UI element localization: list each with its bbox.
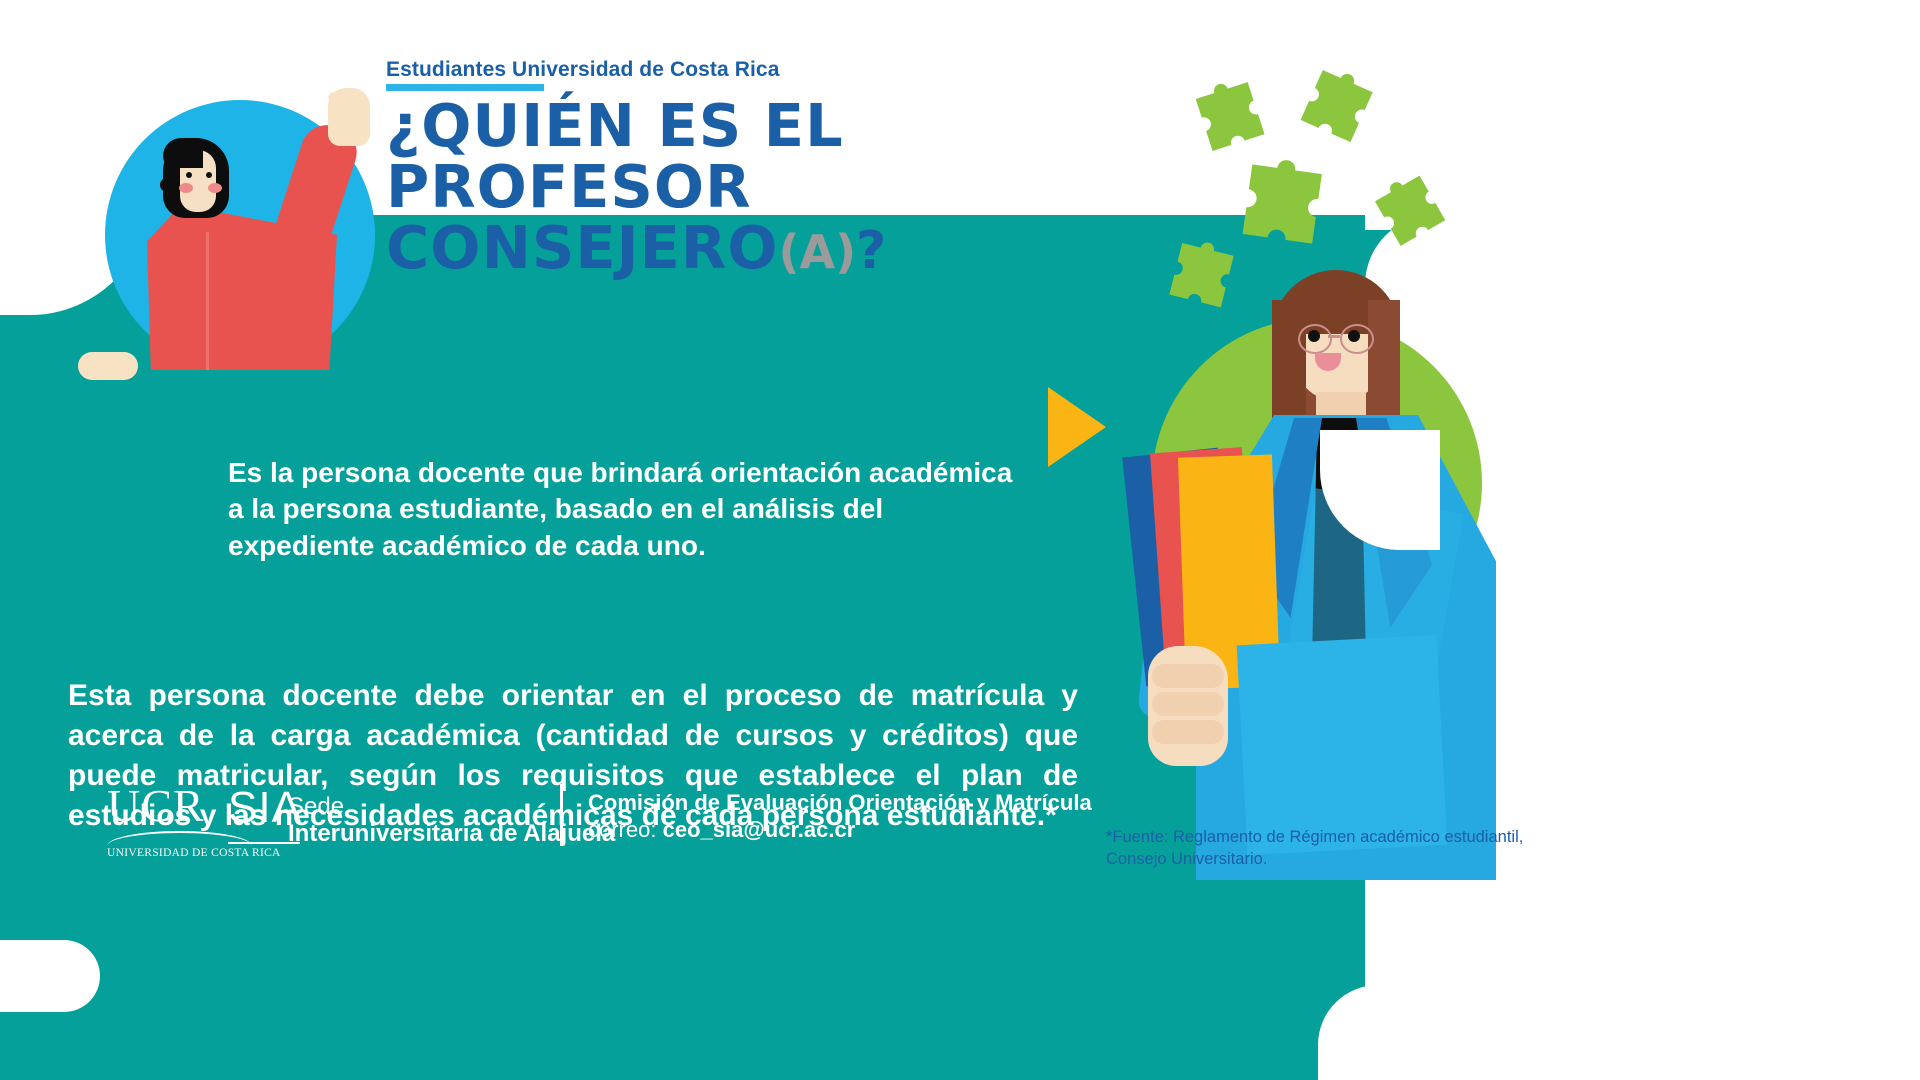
white-clip-bottom (1365, 985, 1920, 1080)
glasses-lens-left-icon (1298, 324, 1332, 354)
student-ear (160, 178, 174, 192)
footer-divider (560, 784, 563, 846)
glasses-lens-right-icon (1340, 324, 1374, 354)
infographic-canvas: Estudiantes Universidad de Costa Rica ¿Q… (0, 0, 1920, 1080)
teacher-finger-1 (1152, 664, 1224, 688)
eyebrow-label: Estudiantes Universidad de Costa Rica (386, 58, 779, 82)
email-row: correo: ceo_sia@ucr.ac.cr (588, 817, 1092, 844)
puzzle-piece-icon (1232, 154, 1334, 256)
footnote: *Fuente: Reglamento de Régimen académico… (1106, 826, 1536, 871)
student-eye-right (206, 172, 212, 178)
student-sleeve-cuff (78, 352, 138, 380)
title-line-1: ¿QUIÉN ES EL (386, 91, 844, 160)
sede-line-2: Interuniversitaria de Alajuela (288, 821, 615, 848)
student-sweater-crease (206, 232, 209, 370)
decorative-pill-left (0, 940, 100, 1012)
footnote-line-1: *Fuente: Reglamento de Régimen académico… (1106, 826, 1536, 848)
student-eye-left (186, 172, 192, 178)
eyebrow-underline (386, 84, 544, 91)
student-cheek-left (179, 183, 193, 193)
puzzle-piece-icon (1187, 73, 1275, 161)
paragraph-primary: Es la persona docente que brindará orien… (228, 455, 1018, 564)
email-address[interactable]: ceo_sia@ucr.ac.cr (663, 817, 856, 842)
contact-block: Comisión de Evaluación Orientación y Mat… (588, 790, 1092, 844)
teacher-folder (1237, 635, 1448, 855)
teacher-finger-2 (1152, 692, 1224, 716)
student-cheek-right (208, 183, 222, 193)
footnote-line-2: Consejo Universitario. (1106, 848, 1536, 870)
sede-line-1: Sede (288, 794, 615, 821)
title-line-2: PROFESOR CONSEJERO (386, 152, 778, 282)
teacher-finger-3 (1152, 720, 1224, 744)
title-paren: (A) (778, 225, 856, 279)
title-line-2-wrap: PROFESOR CONSEJERO(A)? (386, 157, 1146, 279)
commission-name: Comisión de Evaluación Orientación y Mat… (588, 790, 1092, 817)
glasses-bridge-icon (1328, 335, 1340, 338)
email-label: correo: (588, 817, 656, 842)
ucr-full-name: UNIVERSIDAD DE COSTA RICA (107, 847, 252, 859)
sede-label: Sede Interuniversitaria de Alajuela (288, 794, 615, 848)
title-question-mark: ? (856, 221, 887, 281)
triangle-right-icon (1048, 387, 1106, 467)
page-title: ¿QUIÉN ES EL PROFESOR CONSEJERO(A)? (386, 96, 1146, 278)
white-panel-top-right (1365, 0, 1920, 230)
student-hair-front (163, 138, 203, 168)
